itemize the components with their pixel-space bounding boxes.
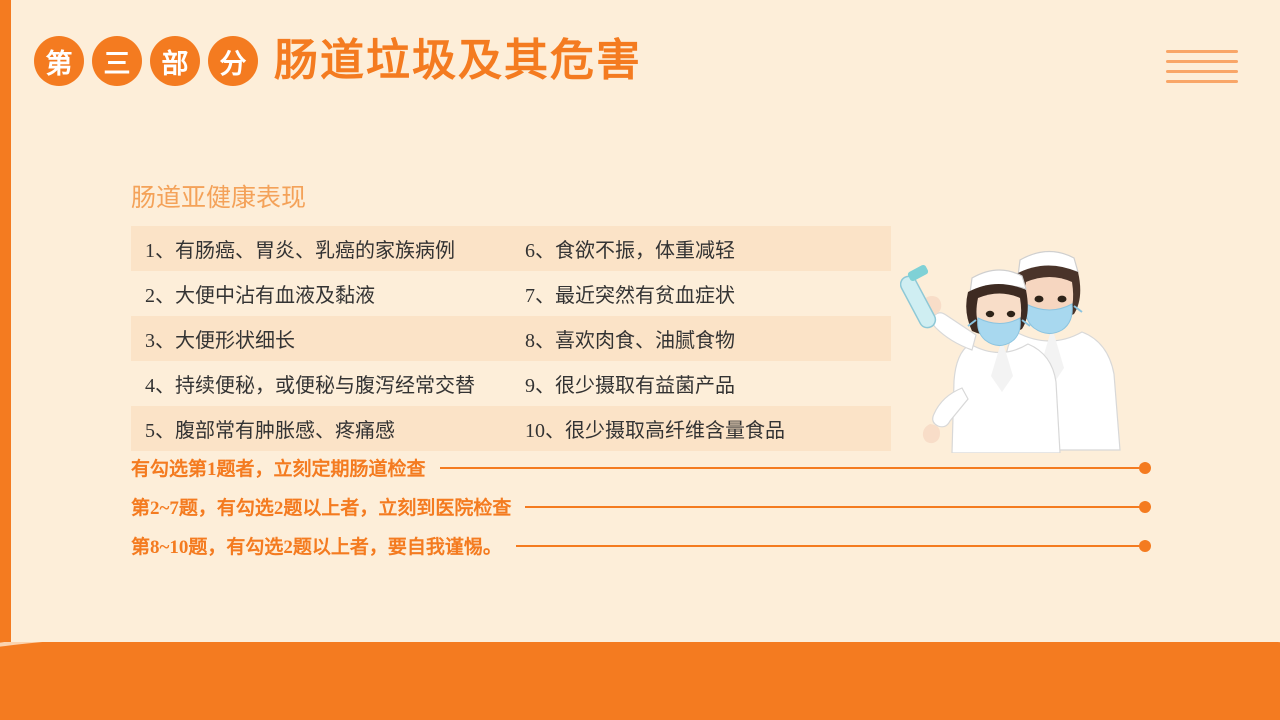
table-row: 4、持续便秘，或便秘与腹泻经常交替 9、很少摄取有益菌产品 <box>131 361 891 406</box>
conclusion-text: 有勾选第1题者，立刻定期肠道检查 <box>131 454 426 481</box>
bottom-decorative-band <box>0 642 1280 720</box>
conclusion-text: 第2~7题，有勾选2题以上者，立刻到医院检查 <box>131 493 511 520</box>
conclusion-rule <box>440 467 1139 469</box>
table-cell-right: 10、很少摄取高纤维含量食品 <box>511 406 891 451</box>
conclusion-rule <box>516 545 1139 547</box>
table-row: 2、大便中沾有血液及黏液 7、最近突然有贫血症状 <box>131 271 891 316</box>
conclusion-line: 第8~10题，有勾选2题以上者，要自我谨惕。 <box>131 532 1151 559</box>
conclusion-dot-icon <box>1139 462 1151 474</box>
conclusion-rule <box>525 506 1139 508</box>
table-cell-right: 7、最近突然有贫血症状 <box>511 271 891 316</box>
section-heading: 肠道亚健康表现 <box>131 178 306 214</box>
bottom-band-orange <box>0 642 1280 720</box>
table-cell-left: 5、腹部常有肿胀感、疼痛感 <box>131 406 511 451</box>
table-row: 5、腹部常有肿胀感、疼痛感 10、很少摄取高纤维含量食品 <box>131 406 891 451</box>
badge-char-4: 分 <box>208 36 258 86</box>
table-cell-left: 3、大便形状细长 <box>131 316 511 361</box>
conclusion-line: 有勾选第1题者，立刻定期肠道检查 <box>131 454 1151 481</box>
conclusion-line: 第2~7题，有勾选2题以上者，立刻到医院检查 <box>131 493 1151 520</box>
symptom-table: 1、有肠癌、胃炎、乳癌的家族病例 6、食欲不振，体重减轻 2、大便中沾有血液及黏… <box>131 226 891 451</box>
table-cell-left: 4、持续便秘，或便秘与腹泻经常交替 <box>131 361 511 406</box>
badge-char-3: 部 <box>150 36 200 86</box>
left-accent-bar <box>0 0 11 688</box>
two-nurses-with-test-tube-illustration <box>900 238 1168 453</box>
hamburger-line-4 <box>1166 80 1238 83</box>
hamburger-menu-icon <box>1166 50 1238 83</box>
table-cell-right: 8、喜欢肉食、油腻食物 <box>511 316 891 361</box>
table-cell-right: 9、很少摄取有益菌产品 <box>511 361 891 406</box>
hamburger-line-3 <box>1166 70 1238 73</box>
table-cell-left: 1、有肠癌、胃炎、乳癌的家族病例 <box>131 226 511 271</box>
badge-char-1: 第 <box>34 36 84 86</box>
badge-char-2: 三 <box>92 36 142 86</box>
table-row: 3、大便形状细长 8、喜欢肉食、油腻食物 <box>131 316 891 361</box>
conclusion-text: 第8~10题，有勾选2题以上者，要自我谨惕。 <box>131 532 502 559</box>
hamburger-line-1 <box>1166 50 1238 53</box>
conclusion-dot-icon <box>1139 501 1151 513</box>
table-cell-left: 2、大便中沾有血液及黏液 <box>131 271 511 316</box>
page-header: 第 三 部 分 肠道垃圾及其危害 <box>34 36 642 86</box>
conclusion-dot-icon <box>1139 540 1151 552</box>
hamburger-line-2 <box>1166 60 1238 63</box>
page-title: 肠道垃圾及其危害 <box>274 39 642 83</box>
table-row: 1、有肠癌、胃炎、乳癌的家族病例 6、食欲不振，体重减轻 <box>131 226 891 271</box>
table-cell-right: 6、食欲不振，体重减轻 <box>511 226 891 271</box>
